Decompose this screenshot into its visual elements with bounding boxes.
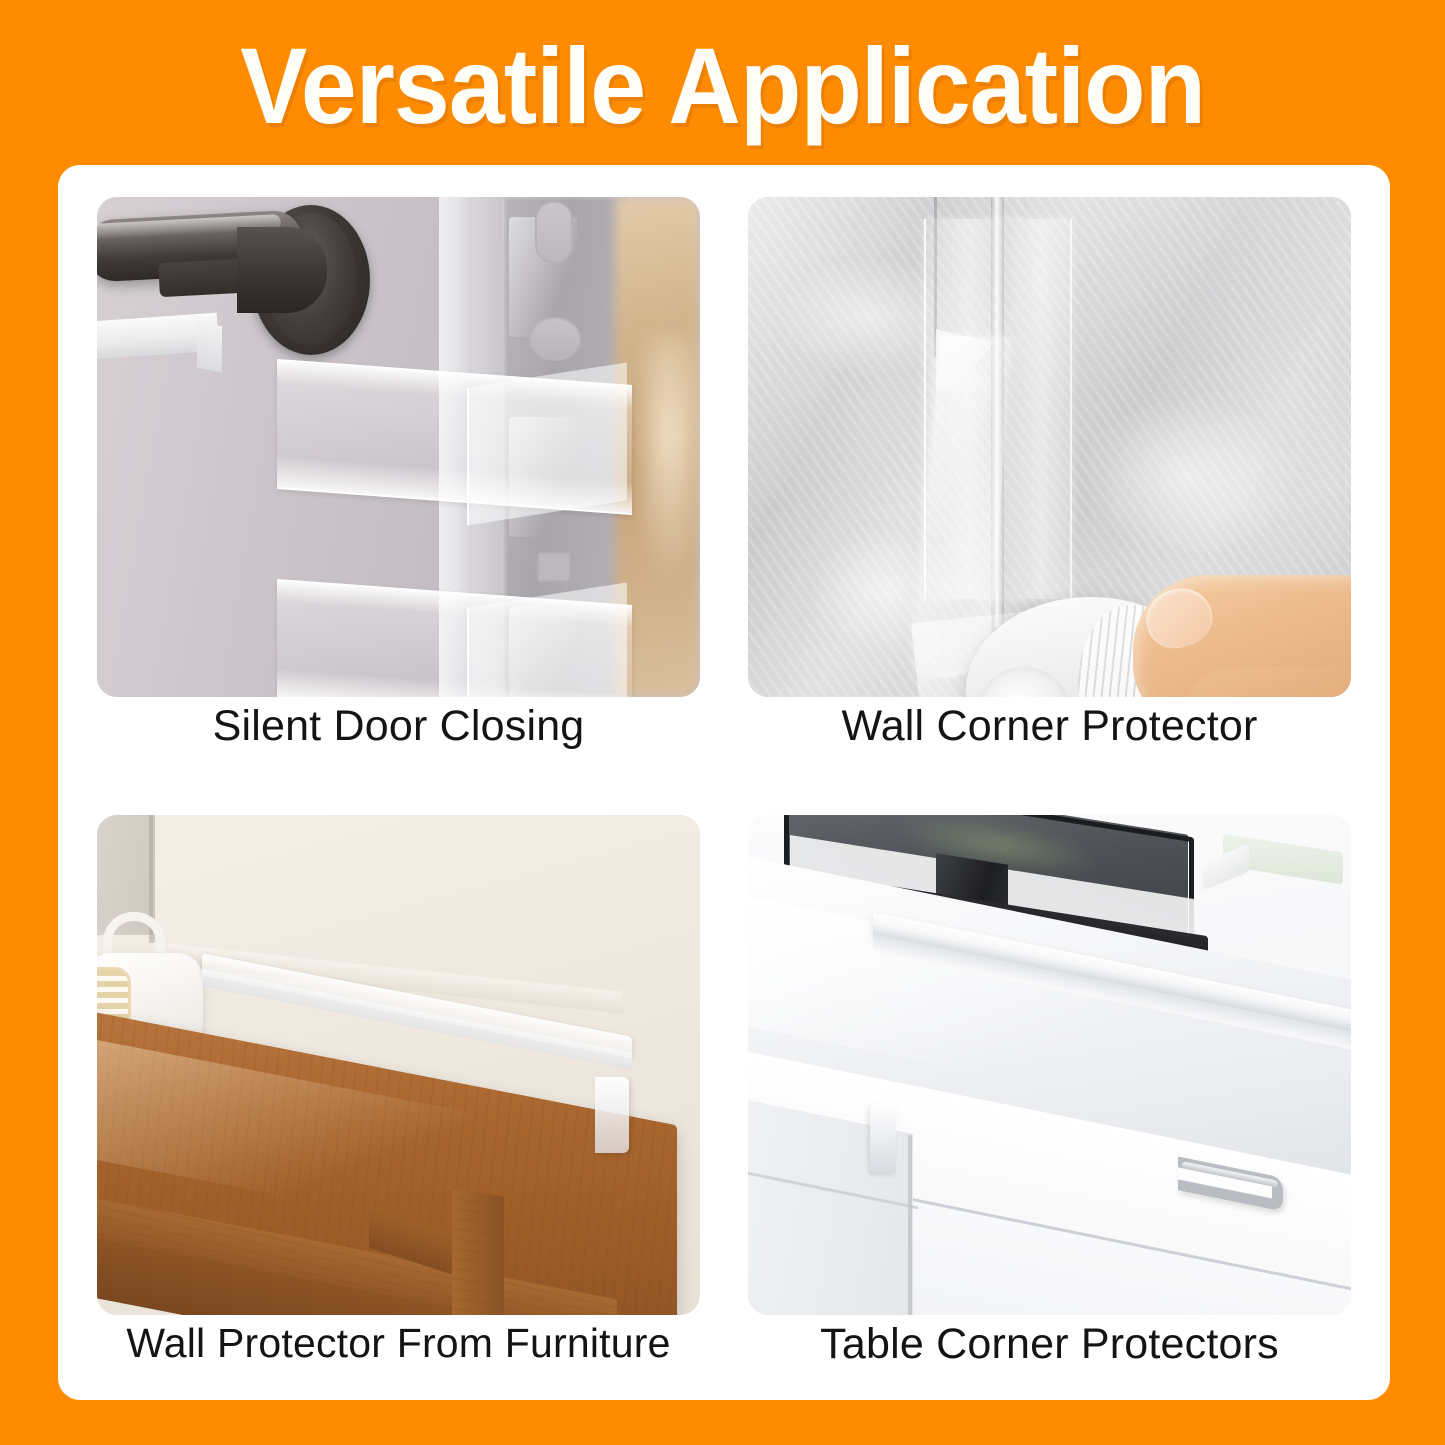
photo-wall-protector-from-furniture (97, 815, 700, 1315)
door-slot-detail (535, 201, 573, 263)
page-title: Versatile Application (240, 26, 1205, 140)
panel-caption: Silent Door Closing (97, 702, 700, 751)
wall-trim-end (197, 322, 222, 372)
door-square-detail (537, 552, 571, 582)
wall-blotch (1078, 397, 1298, 557)
panel-caption: Wall Protector From Furniture (97, 1320, 700, 1367)
panel-silent-door-closing: Silent Door Closing (97, 197, 700, 759)
panel-caption: Wall Corner Protector (748, 702, 1351, 751)
clear-edge-protector-endcap (870, 1103, 896, 1173)
content-card: Silent Door Closing (58, 165, 1390, 1400)
header-banner: Versatile Application (0, 0, 1445, 165)
photo-table-corner-protectors (748, 815, 1351, 1315)
background-room-light (642, 337, 700, 587)
photo-wall-corner-protector (748, 197, 1351, 697)
door-handle-neck (237, 227, 327, 313)
table-leg (452, 1189, 504, 1315)
panel-grid: Silent Door Closing (97, 197, 1351, 1377)
panel-wall-protector-from-furniture: Wall Protector From Furniture (97, 815, 700, 1377)
silicone-strip-upper-wrap (467, 362, 627, 525)
panel-caption: Table Corner Protectors (748, 1320, 1351, 1369)
photo-silent-door-closing (97, 197, 700, 697)
clear-edge-guard-endcap (595, 1077, 629, 1153)
panel-table-corner-protectors: Table Corner Protectors (748, 815, 1351, 1377)
cabinet-side-edge (908, 1135, 912, 1315)
panel-wall-corner-protector: Wall Corner Protector (748, 197, 1351, 759)
door-circle-detail (529, 317, 581, 361)
